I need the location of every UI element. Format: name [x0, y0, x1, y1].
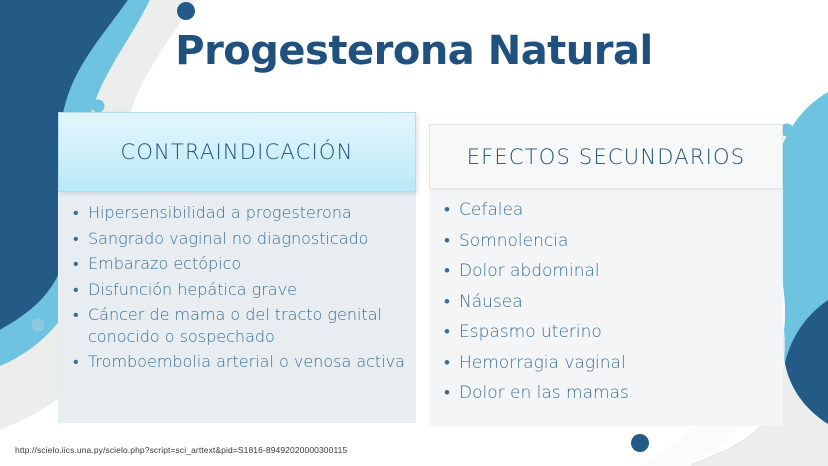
list-item: Hemorragia vaginal	[437, 352, 783, 374]
list-item: Dolor abdominal	[437, 260, 783, 282]
blue-dot-left-lower	[32, 319, 45, 332]
list-item: Tromboembolia arterial o venosa activa	[66, 351, 416, 373]
list-item: Somnolencia	[437, 230, 783, 252]
list-item: Embarazo ectópico	[66, 253, 416, 275]
panel-efectos-secundarios: EFECTOS SECUNDARIOS Cefalea Somnolencia …	[429, 124, 783, 426]
navy-dot-top	[177, 2, 195, 20]
list-item: Espasmo uterino	[437, 321, 783, 343]
navy-dot-bottom	[631, 434, 649, 452]
list-item: Sangrado vaginal no diagnosticado	[66, 228, 416, 250]
efectos-secundarios-list: Cefalea Somnolencia Dolor abdominal Náus…	[429, 199, 783, 413]
panel-efectos-secundarios-header: EFECTOS SECUNDARIOS	[429, 124, 783, 189]
blue-dot-panel-corner	[92, 100, 105, 113]
source-url[interactable]: http://scielo.iics.una.py/scielo.php?scr…	[15, 445, 347, 455]
list-item: Cefalea	[437, 199, 783, 221]
list-item: Dolor en las mamas	[437, 382, 783, 404]
panel-contraindicacion: CONTRAINDICACIÓN Hipersensibilidad a pro…	[58, 112, 416, 423]
page-title: Progesterona Natural	[0, 28, 828, 74]
list-item: Disfunción hepática grave	[66, 279, 416, 301]
contraindicacion-list: Hipersensibilidad a progesterona Sangrad…	[58, 202, 416, 377]
list-item: Hipersensibilidad a progesterona	[66, 202, 416, 224]
list-item: Cáncer de mama o del tracto genital cono…	[66, 304, 416, 347]
list-item: Náusea	[437, 291, 783, 313]
slide: Progesterona Natural CONTRAINDICACIÓN Hi…	[0, 0, 828, 466]
panel-contraindicacion-header: CONTRAINDICACIÓN	[58, 112, 416, 192]
